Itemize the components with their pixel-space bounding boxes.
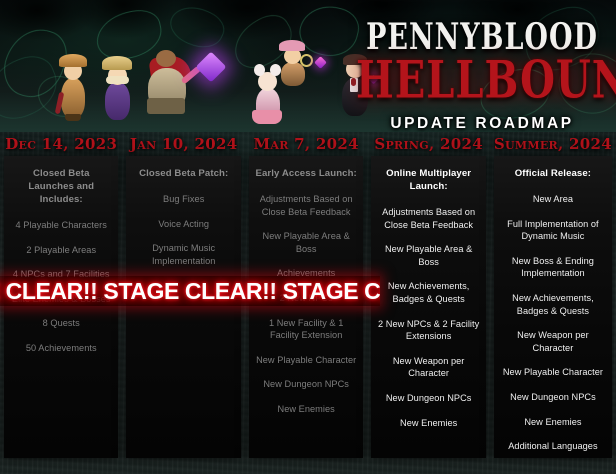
roadmap-column-summer-2024: Summer, 2024 Official Release: New Area … [490,132,616,474]
list-item: New Dungeon NPCs [499,391,607,404]
list-item: Adjustments Based on Close Beta Feedback [376,206,480,231]
character-sprite-mage [100,54,134,122]
character-sprite-gunner [276,40,310,88]
list-item: New Weapon per Character [376,355,480,380]
game-logo: PENNYBLOOD HELLBOUND UPDATE ROADMAP [356,22,608,122]
character-sprite-brawler [140,44,196,124]
column-panel: Closed Beta Patch: Bug Fixes Voice Actin… [126,156,240,458]
column-panel: Official Release: New Area Full Implemen… [494,156,612,458]
stage-clear-text: STAGE CLEAR!! [100,278,279,305]
column-panel: Closed Beta Launches and Includes: 4 Pla… [4,156,118,458]
column-header: Closed Beta Patch: [131,167,235,180]
list-item: New Area [499,193,607,206]
list-item: New Achievements, Badges & Quests [376,280,480,305]
list-item: New Dungeon NPCs [376,392,480,405]
list-item: New Playable Area & Boss [254,230,358,255]
list-item: Dynamic Music Implementation [131,242,235,267]
column-header: Early Access Launch: [254,167,358,180]
list-item: Full Implementation of Dynamic Music [499,218,607,243]
column-header: Official Release: [499,167,607,180]
list-item: Bug Fixes [131,193,235,206]
character-sprite-detective [56,52,90,122]
stage-clear-text: STAGE CLEAR!! [0,278,100,305]
stage-clear-banner: STAGE CLEAR!! STAGE CLEAR!! STAGE CLEAR!… [0,276,380,306]
column-date-heading: Jan 10, 2024 [126,132,240,156]
list-item: New Playable Character [499,366,607,379]
column-header: Closed Beta Launches and Includes: [9,167,113,206]
column-panel: Online Multiplayer Launch: Adjustments B… [371,156,485,458]
list-item: Voice Acting [131,218,235,231]
column-header: Online Multiplayer Launch: [376,167,480,193]
list-item: 50 Achievements [9,342,113,355]
header-artwork: PENNYBLOOD HELLBOUND UPDATE ROADMAP [0,0,616,132]
list-item: New Dungeon NPCs [254,378,358,391]
list-item: New Achievements, Badges & Quests [499,292,607,317]
list-item: 8 Quests [9,317,113,330]
list-item: New Weapon per Character [499,329,607,354]
list-item: Additional Languages [499,440,607,453]
column-panel: Early Access Launch: Adjustments Based o… [249,156,363,458]
magic-crystal-icon [195,51,226,82]
roadmap-screenshot: PENNYBLOOD HELLBOUND UPDATE ROADMAP Dec … [0,0,616,474]
logo-title-hellbound: HELLBOUND [356,54,608,108]
list-item: New Boss & Ending Implementation [499,255,607,280]
list-item: New Enemies [499,416,607,429]
list-item: New Enemies [254,403,358,416]
stage-clear-text: STAGE CLEAR!! [280,278,380,305]
column-date-heading: Dec 14, 2023 [4,132,118,156]
column-date-heading: Spring, 2024 [371,132,485,156]
list-item: New Playable Area & Boss [376,243,480,268]
list-item: 4 Playable Characters [9,219,113,232]
list-item: 2 New NPCs & 2 Facility Extensions [376,318,480,343]
list-item: New Enemies [376,417,480,430]
column-date-heading: Mar 7, 2024 [249,132,363,156]
magic-spark-icon [314,56,327,69]
list-item: 2 Playable Areas [9,244,113,257]
logo-subtitle: UPDATE ROADMAP [356,115,608,132]
list-item: 1 New Facility & 1 Facility Extension [254,317,358,342]
roadmap-column-spring-2024: Spring, 2024 Online Multiplayer Launch: … [367,132,489,474]
column-date-heading: Summer, 2024 [494,132,612,156]
list-item: New Playable Character [254,354,358,367]
list-item: Adjustments Based on Close Beta Feedback [254,193,358,218]
